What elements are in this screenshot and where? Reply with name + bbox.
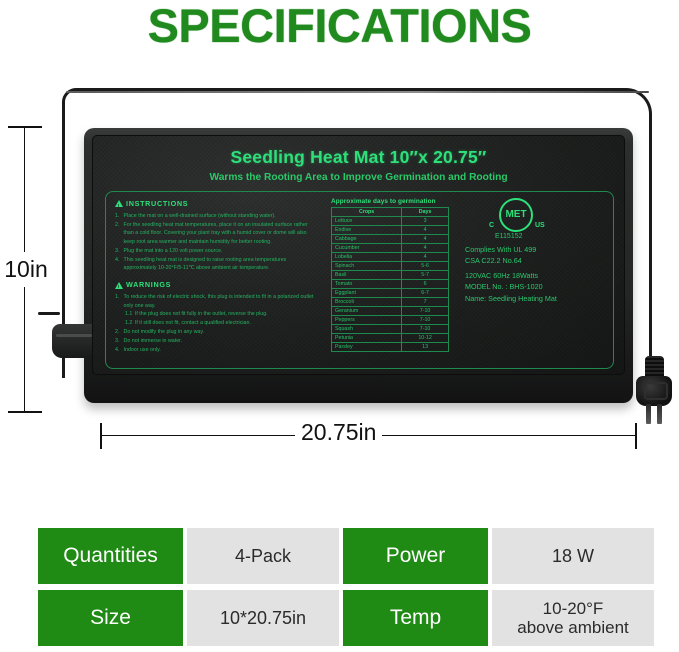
compliance-block: Complies With UL 499 CSA C22.2 No.64 [465, 244, 610, 266]
list-item: 1.1If the plug does not fit fully in the… [115, 310, 315, 319]
column-header-days: Days [402, 208, 449, 217]
mat-printed-subtitle: Warms the Rooting Area to Improve Germin… [93, 172, 624, 183]
cell-days: 7 [402, 298, 449, 307]
instructions-warnings-column: INSTRUCTIONS 1.Place the mat on a well-d… [115, 198, 315, 355]
item-number: 2. [115, 221, 121, 247]
met-mark-block: MET C US E115152 [465, 196, 610, 240]
width-dimension-cap-left [100, 423, 102, 449]
cell-crop: Tomato [332, 280, 402, 289]
cell-crop: Spinach [332, 262, 402, 271]
table-row: Broccoli7 [332, 298, 449, 307]
cell-days: 7-10 [402, 325, 449, 334]
spec-value-temp: 10-20°F above ambient [492, 590, 654, 646]
warning-triangle-icon [115, 282, 123, 289]
cell-days: 6 [402, 280, 449, 289]
height-dimension-label: 10in [0, 252, 52, 287]
list-item: 1.2If it still does not fit, contact a q… [115, 319, 315, 328]
table-row: Lobelia4 [332, 253, 449, 262]
list-item: 3.Plug the mat into a 120 volt power sou… [115, 247, 315, 256]
product-photo: Seedling Heat Mat 10″x 20.75″ Warms the … [0, 60, 679, 460]
cell-crop: Geranium [332, 307, 402, 316]
item-number: 1.2 [125, 319, 132, 328]
mat-printed-title: Seedling Heat Mat 10″x 20.75″ [93, 147, 624, 168]
cell-crop: Cabbage [332, 235, 402, 244]
power-cord-highlight [66, 91, 649, 93]
met-us-label: US [535, 221, 545, 232]
plug-strain-relief [645, 356, 664, 378]
item-number: 2. [115, 328, 121, 337]
cell-crop: Lettuce [332, 217, 402, 226]
cell-days: 4 [402, 253, 449, 262]
met-logo-icon: MET [499, 198, 533, 232]
item-text: Plug the mat into a 120 volt power sourc… [124, 247, 223, 256]
electrical-rating: 120VAC 60Hz 18Watts [465, 270, 610, 281]
electrical-block: 120VAC 60Hz 18Watts MODEL No. : BHS-1020… [465, 270, 610, 303]
certification-column: MET C US E115152 Complies With UL 499 CS… [465, 196, 610, 304]
list-item: 4.This seedling heat mat is designed to … [115, 256, 315, 273]
cell-days: 4 [402, 244, 449, 253]
cell-crop: Endive [332, 226, 402, 235]
plug-prong-left [646, 404, 651, 424]
cell-days: 10-12 [402, 334, 449, 343]
cell-days: 6-7 [402, 289, 449, 298]
table-row: Spinach5-6 [332, 262, 449, 271]
height-dimension-cap-bottom [8, 411, 42, 413]
item-number: 4. [115, 346, 121, 355]
heat-mat-surface: Seedling Heat Mat 10″x 20.75″ Warms the … [92, 135, 625, 375]
table-row: Squash7-10 [332, 325, 449, 334]
spec-table: Quantities 4-Pack Power 18 W Size 10*20.… [38, 528, 642, 646]
list-item: 3.Do not immerse in water. [115, 337, 315, 346]
item-number: 1. [115, 212, 121, 221]
warnings-heading: WARNINGS [126, 279, 171, 291]
table-row: Geranium7-10 [332, 307, 449, 316]
cell-days: 5-6 [402, 262, 449, 271]
power-plug [636, 356, 672, 426]
instructions-list: 1.Place the mat on a well-drained surfac… [115, 212, 315, 273]
warning-triangle-icon [115, 200, 123, 207]
item-text: Do not immerse in water. [124, 337, 183, 346]
cell-days: 4 [402, 226, 449, 235]
germination-table-body: Crops Days Lettuce3 Endive4 Cabbage4 Cuc… [332, 208, 449, 352]
table-row: Basil5-7 [332, 271, 449, 280]
list-item: 1.To reduce the risk of electric shock, … [115, 293, 315, 310]
met-file-number: E115152 [495, 232, 523, 243]
product-name: Name: Seedling Heating Mat [465, 293, 610, 304]
table-row: Peppers7-10 [332, 316, 449, 325]
table-row: Lettuce3 [332, 217, 449, 226]
cell-days: 4 [402, 235, 449, 244]
spec-key-power: Power [343, 528, 488, 584]
height-dimension-cap-top [8, 126, 42, 128]
item-number: 1. [115, 293, 121, 310]
spec-key-size: Size [38, 590, 183, 646]
list-item: 2.Do not modify the plug in any way. [115, 328, 315, 337]
germination-table-block: Approximate days to germination Crops Da… [331, 198, 453, 352]
cord-exit-wire [38, 312, 60, 315]
table-row: Cucumber4 [332, 244, 449, 253]
instructions-heading: INSTRUCTIONS [126, 198, 188, 210]
warnings-list: 1.To reduce the risk of electric shock, … [115, 293, 315, 355]
germination-table: Crops Days Lettuce3 Endive4 Cabbage4 Cuc… [331, 207, 449, 352]
cell-crop: Eggplant [332, 289, 402, 298]
item-number: 3. [115, 247, 121, 256]
table-row: Eggplant6-7 [332, 289, 449, 298]
spec-key-quantities: Quantities [38, 528, 183, 584]
instructions-heading-row: INSTRUCTIONS [115, 198, 315, 210]
list-item: 2.For the seedling heat mat temperatures… [115, 221, 315, 247]
item-text: Indoor use only. [124, 346, 161, 355]
item-number: 1.1 [125, 310, 132, 319]
item-number: 4. [115, 256, 121, 273]
cell-crop: Broccoli [332, 298, 402, 307]
germination-table-caption: Approximate days to germination [331, 198, 453, 205]
page-title: SPECIFICATIONS [0, 0, 679, 53]
cell-days: 5-7 [402, 271, 449, 280]
plug-prong-right [657, 404, 662, 424]
item-text: Place the mat on a well-drained surface … [124, 212, 276, 221]
cell-days: 7-10 [402, 307, 449, 316]
width-dimension-cap-right [635, 423, 637, 449]
compliance-ul: Complies With UL 499 [465, 244, 610, 255]
item-text: This seedling heat mat is designed to ra… [124, 256, 316, 273]
list-item: 1.Place the mat on a well-drained surfac… [115, 212, 315, 221]
column-header-crops: Crops [332, 208, 402, 217]
cell-crop: Cucumber [332, 244, 402, 253]
item-text: If it still does not fit, contact a qual… [135, 319, 251, 328]
item-number: 3. [115, 337, 121, 346]
cell-crop: Petunia [332, 334, 402, 343]
table-row: Cabbage4 [332, 235, 449, 244]
item-text: If the plug does not fit fully in the ou… [135, 310, 268, 319]
item-text: To reduce the risk of electric shock, th… [124, 293, 316, 310]
cell-days: 3 [402, 217, 449, 226]
cell-crop: Basil [332, 271, 402, 280]
cell-crop: Peppers [332, 316, 402, 325]
plug-body [636, 376, 672, 406]
spec-value-quantities: 4-Pack [187, 528, 339, 584]
cell-crop: Parsley [332, 343, 402, 352]
table-header-row: Crops Days [332, 208, 449, 217]
cell-days: 13 [402, 343, 449, 352]
met-c-label: C [489, 221, 494, 232]
warnings-heading-row: WARNINGS [115, 279, 315, 291]
heat-mat: Seedling Heat Mat 10″x 20.75″ Warms the … [84, 128, 633, 403]
table-row: Parsley13 [332, 343, 449, 352]
model-number: MODEL No. : BHS-1020 [465, 281, 610, 292]
spec-value-power: 18 W [492, 528, 654, 584]
table-row: Endive4 [332, 226, 449, 235]
cell-crop: Squash [332, 325, 402, 334]
width-dimension-label: 20.75in [295, 419, 382, 446]
item-text: For the seedling heat mat temperatures, … [124, 221, 316, 247]
compliance-csa: CSA C22.2 No.64 [465, 255, 610, 266]
table-row: Tomato6 [332, 280, 449, 289]
list-item: 4.Indoor use only. [115, 346, 315, 355]
cell-days: 7-10 [402, 316, 449, 325]
table-row: Petunia10-12 [332, 334, 449, 343]
spec-key-temp: Temp [343, 590, 488, 646]
item-text: Do not modify the plug in any way. [124, 328, 205, 337]
cell-crop: Lobelia [332, 253, 402, 262]
spec-value-size: 10*20.75in [187, 590, 339, 646]
